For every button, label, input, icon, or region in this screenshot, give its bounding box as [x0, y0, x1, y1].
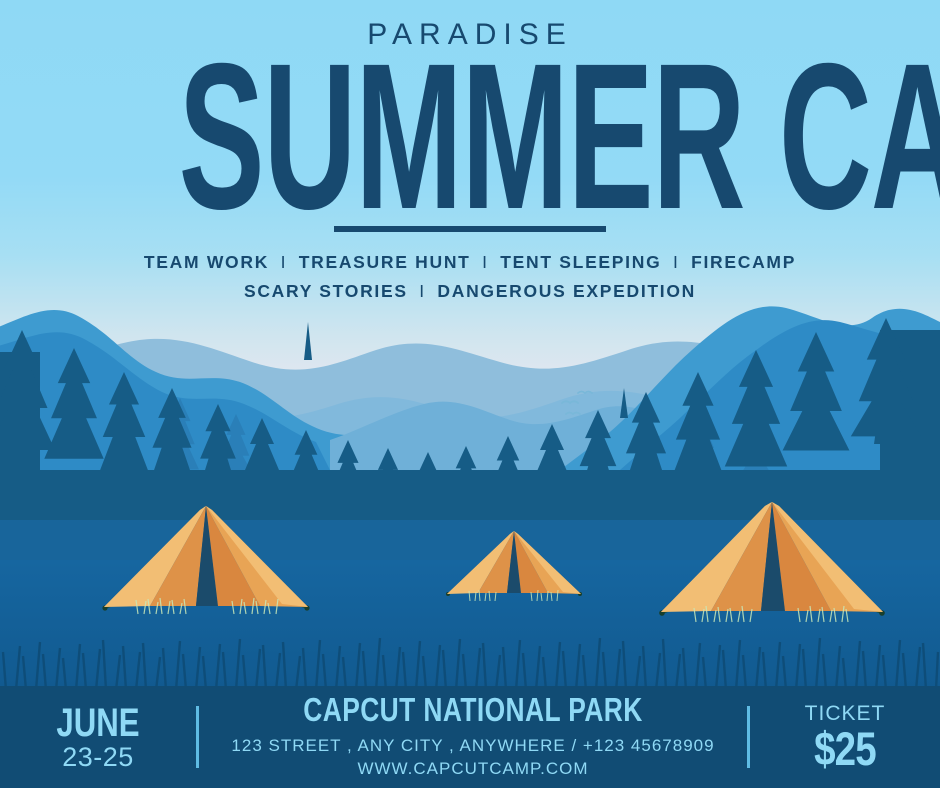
- website-url[interactable]: WWW.CAPCUTCAMP.COM: [209, 758, 737, 781]
- feature-item: DANGEROUS EXPEDITION: [437, 281, 696, 301]
- summer-camp-poster: PARADISE SUMMER CAMP TEAM WORK I TREASUR…: [0, 0, 940, 788]
- location-address: 123 STREET , ANY CITY , ANYWHERE / +123 …: [209, 735, 737, 758]
- ticket-label: TICKET: [750, 703, 940, 724]
- poster-header: PARADISE SUMMER CAMP TEAM WORK I TREASUR…: [0, 0, 940, 305]
- separator-icon: I: [414, 281, 431, 301]
- info-banner: JUNE 23-25 CAPCUT NATIONAL PARK 123 STRE…: [0, 686, 940, 788]
- feature-item: FIRECAMP: [691, 252, 796, 272]
- separator-icon: I: [668, 252, 685, 272]
- separator-icon: I: [276, 252, 293, 272]
- grass-field: [0, 628, 940, 690]
- grass-tuft-left: [92, 588, 320, 618]
- date-block: JUNE 23-25: [0, 704, 196, 771]
- page-title: SUMMER CAMP: [179, 56, 762, 218]
- ticket-block: TICKET $25: [750, 703, 940, 772]
- location-title: CAPCUT NATIONAL PARK: [262, 693, 684, 728]
- grass-tuft-center: [440, 582, 588, 604]
- date-month: JUNE: [22, 704, 175, 742]
- date-days: 23-25: [0, 744, 196, 771]
- feature-item: SCARY STORIES: [244, 281, 408, 301]
- feature-item: TENT SLEEPING: [500, 252, 661, 272]
- feature-item: TREASURE HUNT: [299, 252, 471, 272]
- location-block: CAPCUT NATIONAL PARK 123 STREET , ANY CI…: [199, 693, 747, 781]
- separator-icon: I: [477, 252, 494, 272]
- feature-list: TEAM WORK I TREASURE HUNT I TENT SLEEPIN…: [0, 248, 940, 305]
- grass-tuft-right: [648, 596, 896, 626]
- ticket-price: $25: [767, 725, 923, 772]
- feature-row-2: SCARY STORIES I DANGEROUS EXPEDITION: [0, 277, 940, 305]
- feature-item: TEAM WORK: [144, 252, 269, 272]
